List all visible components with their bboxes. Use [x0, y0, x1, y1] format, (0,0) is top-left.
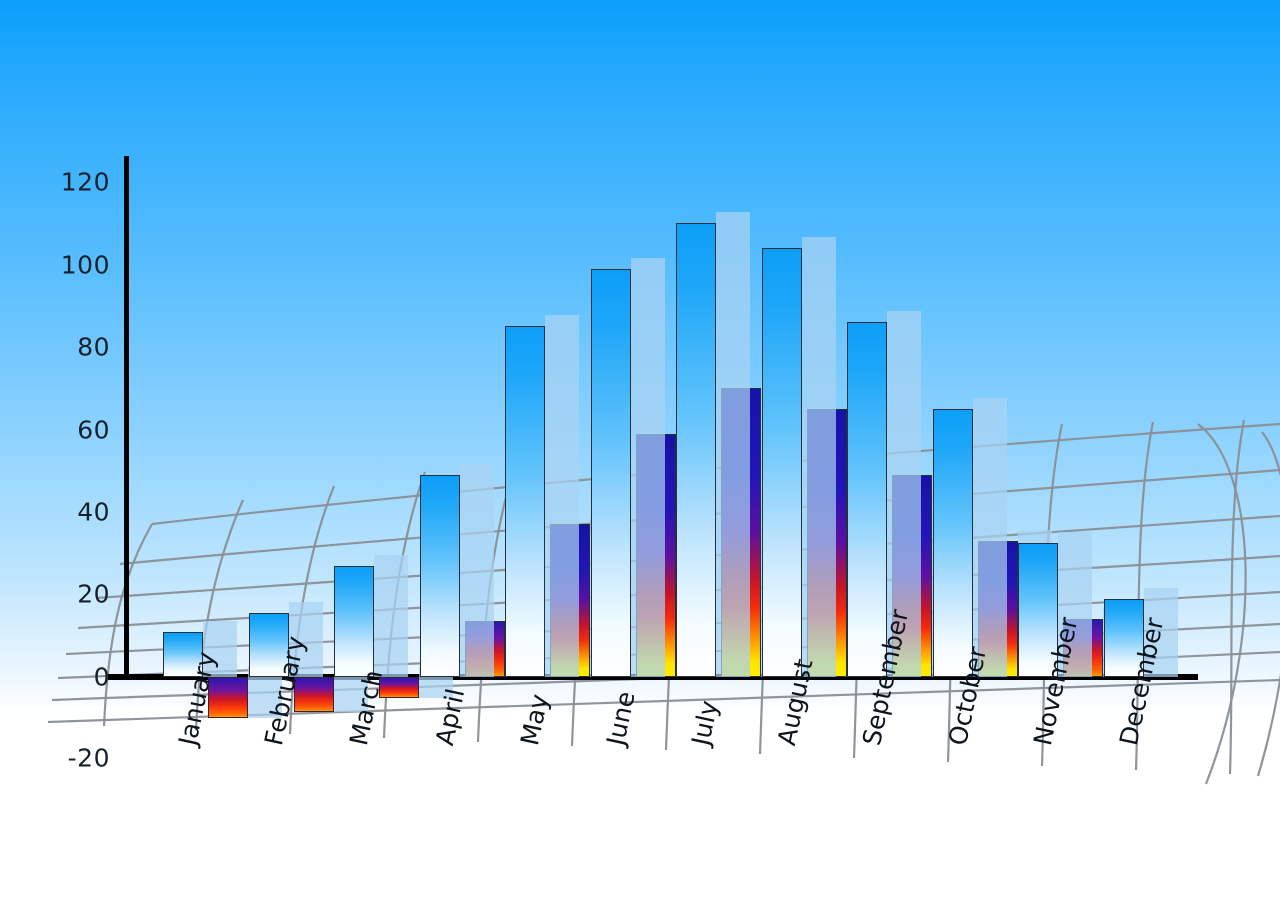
y-tick-100: 100 — [61, 251, 110, 280]
bar-march-series-1[interactable] — [334, 566, 374, 677]
bar-shadow — [460, 464, 494, 677]
y-tick-neg20: -20 — [68, 744, 110, 773]
y-axis-line — [124, 156, 129, 680]
bar-shadow — [374, 555, 408, 677]
bar-shadow — [716, 212, 750, 677]
bar-october-series-1[interactable] — [933, 409, 973, 677]
bar-may-series-1[interactable] — [505, 326, 545, 677]
y-tick-0: 0 — [94, 663, 110, 692]
bar-shadow — [973, 398, 1007, 677]
x-label-june: June — [601, 689, 641, 748]
bar-june-series-1[interactable] — [591, 269, 631, 677]
bar-august-series-1[interactable] — [762, 248, 802, 677]
y-tick-60: 60 — [77, 416, 110, 445]
bar-shadow — [545, 315, 579, 677]
y-tick-120: 120 — [61, 168, 110, 197]
x-label-july: July — [686, 698, 724, 748]
y-tick-80: 80 — [77, 333, 110, 362]
y-tick-40: 40 — [77, 498, 110, 527]
bar-april-series-1[interactable] — [420, 475, 460, 677]
x-label-may: May — [515, 691, 554, 748]
bar-shadow — [631, 258, 665, 677]
bar-chart: 120 100 80 60 40 20 0 -20 JanuaryFebruar… — [0, 0, 1280, 905]
y-tick-20: 20 — [77, 580, 110, 609]
bar-july-series-1[interactable] — [676, 223, 716, 677]
bar-shadow — [802, 237, 836, 677]
